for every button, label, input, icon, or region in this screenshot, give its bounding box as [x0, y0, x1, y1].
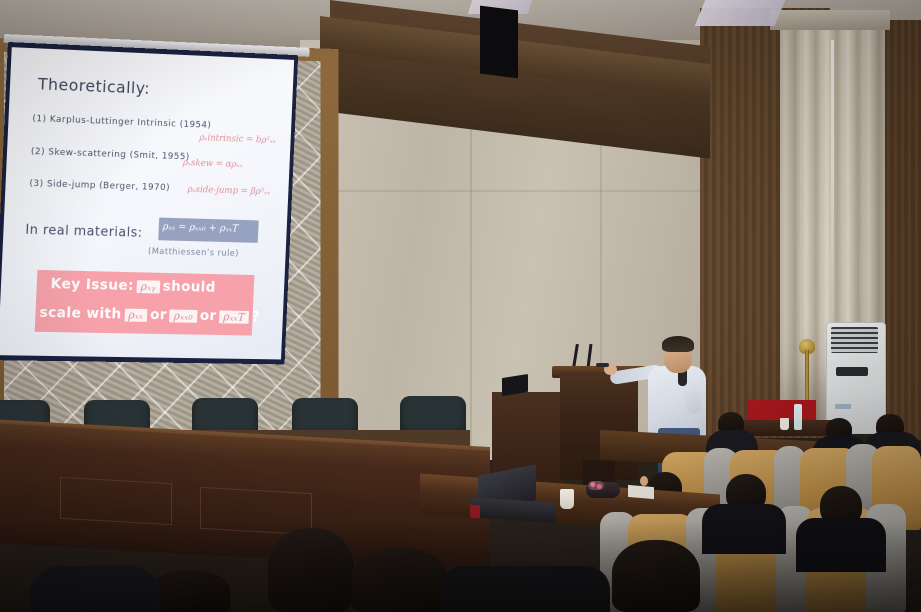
foreground-shadow [0, 520, 921, 612]
equation-intrinsic: ρₛintrinsic = bρ²ₓₓ [199, 133, 276, 146]
key-issue-symbol-rho-xy: ρₓᵧ [137, 280, 161, 293]
lecture-hall-photo: Theoretically: (1) Karplus-Luttinger Int… [0, 0, 921, 612]
air-conditioner-display [836, 367, 868, 376]
air-conditioner-logo [835, 404, 851, 409]
slide-bullet-1: (1) Karplus-Luttinger Intrinsic (1954) [32, 114, 211, 131]
equation-skew: ρₛskew = αρₓₓ [183, 158, 243, 170]
handbag-floral-detail [588, 481, 604, 490]
air-conditioner-vent [831, 327, 878, 353]
slide-rule-note: (Matthiessen’s rule) [148, 247, 239, 259]
water-bottle [794, 404, 802, 430]
key-issue-symbol-rho-xx: ρₓₓ [124, 308, 147, 321]
black-wall-panel [480, 6, 518, 79]
projector-screen[interactable]: Theoretically: (1) Karplus-Luttinger Int… [0, 42, 298, 364]
ceiling-light-panel [695, 0, 786, 26]
desk-panel [60, 477, 172, 525]
curtain-rail [770, 10, 890, 30]
audience-face [640, 476, 648, 486]
slide-title: Theoretically: [38, 74, 151, 97]
key-issue-or-2: or [200, 308, 217, 324]
slide-bullet-2: (2) Skew-scattering (Smit, 1955) [31, 147, 190, 162]
wood-wall-far-right [880, 20, 921, 440]
presenter-hair [662, 336, 694, 352]
key-issue-line-1: Key Issue:ρₓᵧshould [50, 276, 216, 295]
slide-surface: Theoretically: (1) Karplus-Luttinger Int… [0, 47, 294, 359]
notebook [628, 485, 654, 499]
key-issue-or-1: or [150, 307, 167, 323]
curtain-light-gap [831, 40, 834, 340]
key-issue-suffix: should [162, 279, 216, 296]
equation-matthiessen: ρₓₓ = ρₓₓ₀ + ρₓₓT [162, 222, 238, 235]
slide-real-materials-label: In real materials: [25, 223, 143, 241]
key-issue-symbol-rho-xxT: ρₓₓT [219, 310, 249, 323]
paper-cup [780, 418, 789, 430]
equation-side-jump: ρₛside-jump = βρ²ₓₓ [187, 185, 270, 197]
key-issue-prefix: Key Issue: [50, 276, 134, 294]
key-issue-box: Key Issue:ρₓᵧshould scale withρₓₓorρₓₓ₀o… [35, 270, 255, 336]
paper-cup [560, 489, 574, 509]
laser-pointer [596, 363, 609, 367]
slide-bullet-3: (3) Side-jump (Berger, 1970) [29, 179, 170, 193]
key-issue-scale-prefix: scale with [39, 305, 122, 322]
laptop-accent [470, 505, 480, 519]
key-issue-symbol-rho-xx0: ρₓₓ₀ [170, 309, 198, 322]
wall-seam [300, 190, 720, 192]
key-issue-question: ? [252, 309, 261, 325]
key-issue-line-2: scale withρₓₓorρₓₓ₀orρₓₓT? [39, 305, 260, 325]
